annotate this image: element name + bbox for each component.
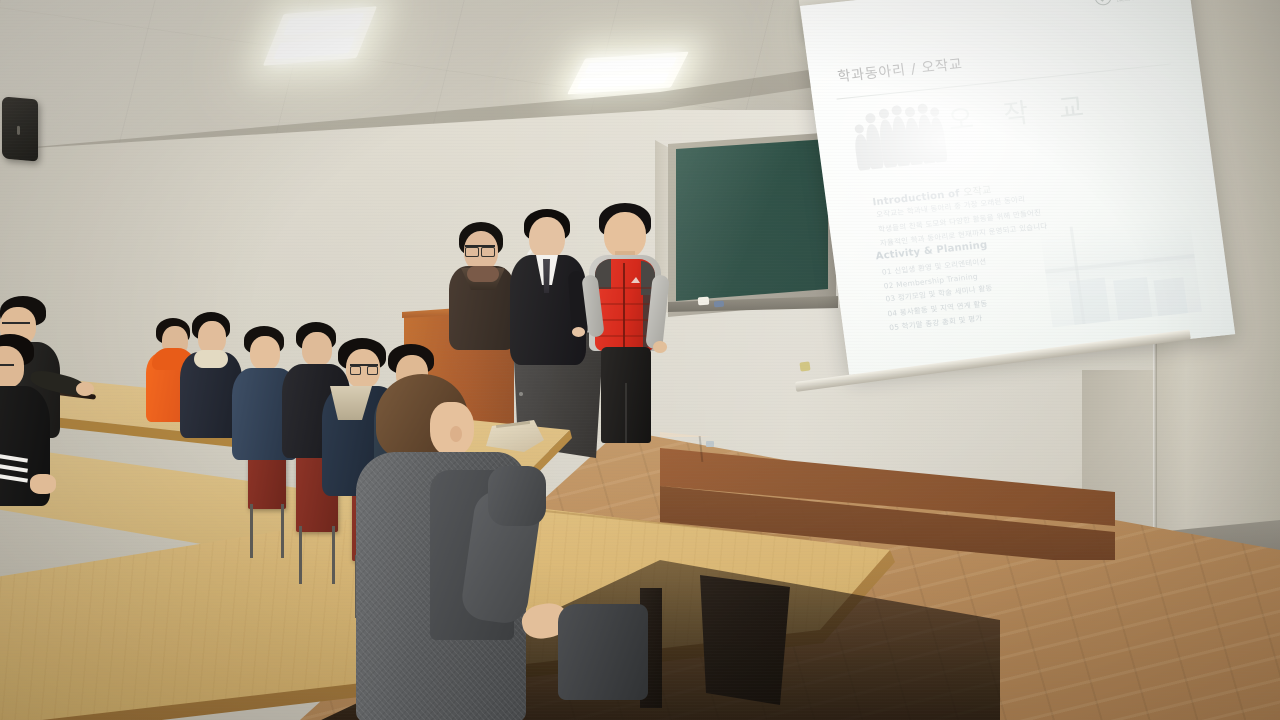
hand: [572, 327, 585, 337]
cream-scarf: [194, 350, 228, 368]
chair-legs: [250, 504, 283, 558]
hand: [76, 382, 94, 396]
slide-header: 학과동아리 / 오작교: [836, 32, 1167, 86]
hand: [653, 341, 667, 353]
lap-trousers: [558, 604, 648, 700]
speaker-indicator: [17, 126, 20, 135]
scarf: [467, 266, 499, 282]
podium-fitting: [519, 392, 523, 396]
chalkboard-glare: [676, 139, 828, 301]
chalkboard-eraser: [714, 301, 724, 308]
fluorescent-tube: [283, 13, 364, 35]
necktie: [543, 259, 550, 293]
face: [302, 332, 332, 366]
slide-bullet-list-2: 01 신입생 환영 및 오리엔테이션 02 Membership Trainin…: [881, 256, 997, 338]
clasped-hands: [30, 474, 56, 494]
wall-speaker-icon: [2, 96, 38, 161]
glasses-icon: [0, 364, 14, 374]
projected-slide: 대구대학교 DAEGU UNIVERSITY 학과동아리 / 오작교: [800, 0, 1235, 375]
stage-step-tag: [706, 441, 714, 447]
chalk-piece: [698, 297, 710, 306]
fluorescent-tube: [274, 37, 355, 59]
shoulder: [488, 466, 546, 526]
fluorescent-tube: [585, 57, 677, 73]
projector-screen[interactable]: 대구대학교 DAEGU UNIVERSITY 학과동아리 / 오작교: [800, 0, 1235, 375]
university-crest-icon: [1093, 0, 1112, 6]
pants-seam: [625, 383, 627, 443]
projector-screen-pull-tab[interactable]: [799, 361, 810, 371]
club-group-photo: [848, 96, 949, 177]
club-activity-photo: [1040, 214, 1202, 327]
university-logo: 대구대학교 DAEGU UNIVERSITY: [1093, 0, 1170, 6]
glasses-icon: [2, 322, 30, 331]
glasses-icon: [465, 245, 495, 253]
face: [529, 217, 565, 259]
glasses-icon: [350, 364, 378, 373]
photo-detail: [1045, 254, 1195, 274]
club-wordmark: 오 작 교: [946, 84, 1097, 138]
chair-legs: [299, 526, 336, 584]
face: [250, 336, 280, 370]
slide-header-text: 학과동아리 / 오작교: [836, 32, 1167, 86]
classroom-photo: 대구대학교 DAEGU UNIVERSITY 학과동아리 / 오작교: [0, 0, 1280, 720]
fluorescent-tube: [577, 73, 669, 89]
ear: [450, 426, 462, 442]
logo-subtext: DAEGU UNIVERSITY: [1117, 0, 1170, 3]
